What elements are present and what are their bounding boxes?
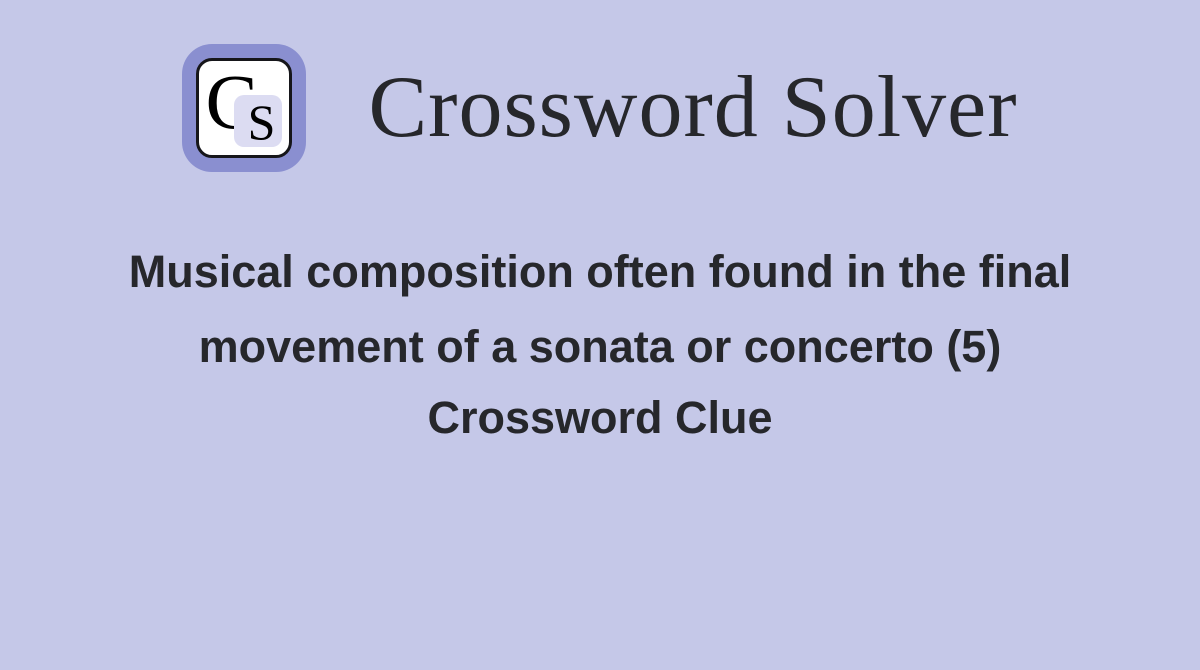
logo-letter-s: S	[248, 93, 276, 151]
page-title-suffix: Crossword Clue	[100, 384, 1100, 452]
page-title-clue: Musical composition often found in the f…	[100, 234, 1100, 384]
crossword-solver-logo-icon[interactable]: C S	[182, 44, 306, 172]
site-title: Crossword Solver	[368, 60, 1017, 156]
logo-inner-tile: C S	[196, 58, 292, 158]
brand-header: C S Crossword Solver	[182, 44, 1017, 172]
clue-block: Musical composition often found in the f…	[100, 234, 1100, 452]
page-root: C S Crossword Solver Musical composition…	[0, 0, 1200, 670]
